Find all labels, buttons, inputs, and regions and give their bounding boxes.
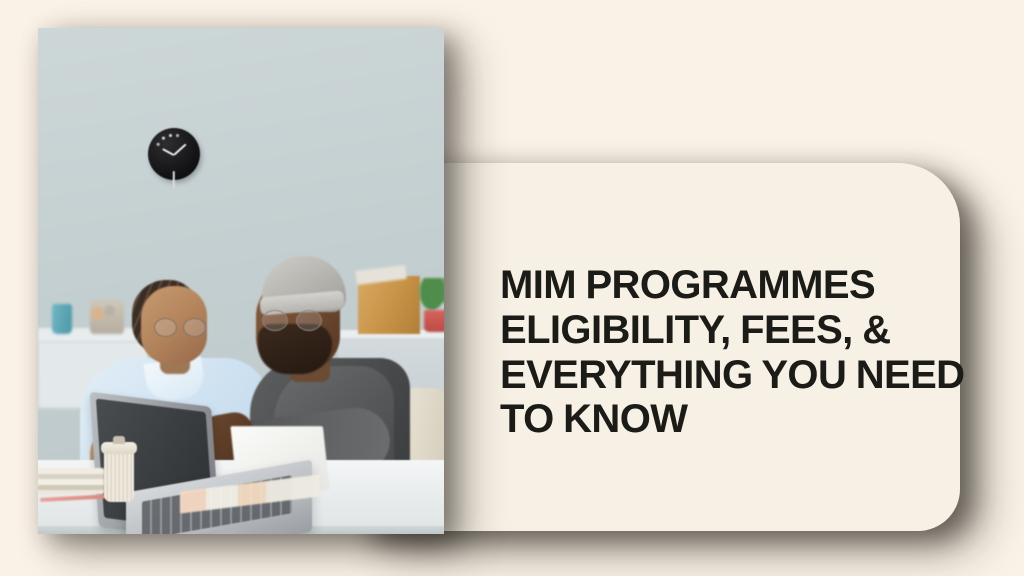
headline-block: MIM PROGRAMMES ELIGIBILITY, FEES, & EVER… <box>500 263 960 442</box>
coffee-cup-knob <box>113 436 125 444</box>
headline-line-4: TO KNOW <box>500 397 960 442</box>
headline-line-3: EVERYTHING YOU NEED <box>500 353 960 398</box>
headline-line-2: ELIGIBILITY, FEES, & <box>500 308 960 353</box>
background-desk-objects <box>90 300 124 334</box>
headline-card: MIM PROGRAMMES ELIGIBILITY, FEES, & EVER… <box>360 163 960 531</box>
cardboard-box <box>358 276 420 334</box>
pen-cup-icon <box>52 304 72 334</box>
man-beard <box>258 324 332 374</box>
hero-photo <box>38 28 444 534</box>
coffee-cup <box>104 448 134 502</box>
banner-root: MIM PROGRAMMES ELIGIBILITY, FEES, & EVER… <box>0 0 1024 576</box>
photo-wall-background <box>38 28 444 534</box>
man-glasses-icon <box>262 310 322 329</box>
desk-books <box>38 468 104 494</box>
plant-pot <box>424 310 444 332</box>
woman-glasses-icon <box>154 318 206 335</box>
headline-line-1: MIM PROGRAMMES <box>500 263 960 308</box>
wall-clock-icon <box>148 128 200 180</box>
page-title: MIM PROGRAMMES ELIGIBILITY, FEES, & EVER… <box>500 263 960 442</box>
